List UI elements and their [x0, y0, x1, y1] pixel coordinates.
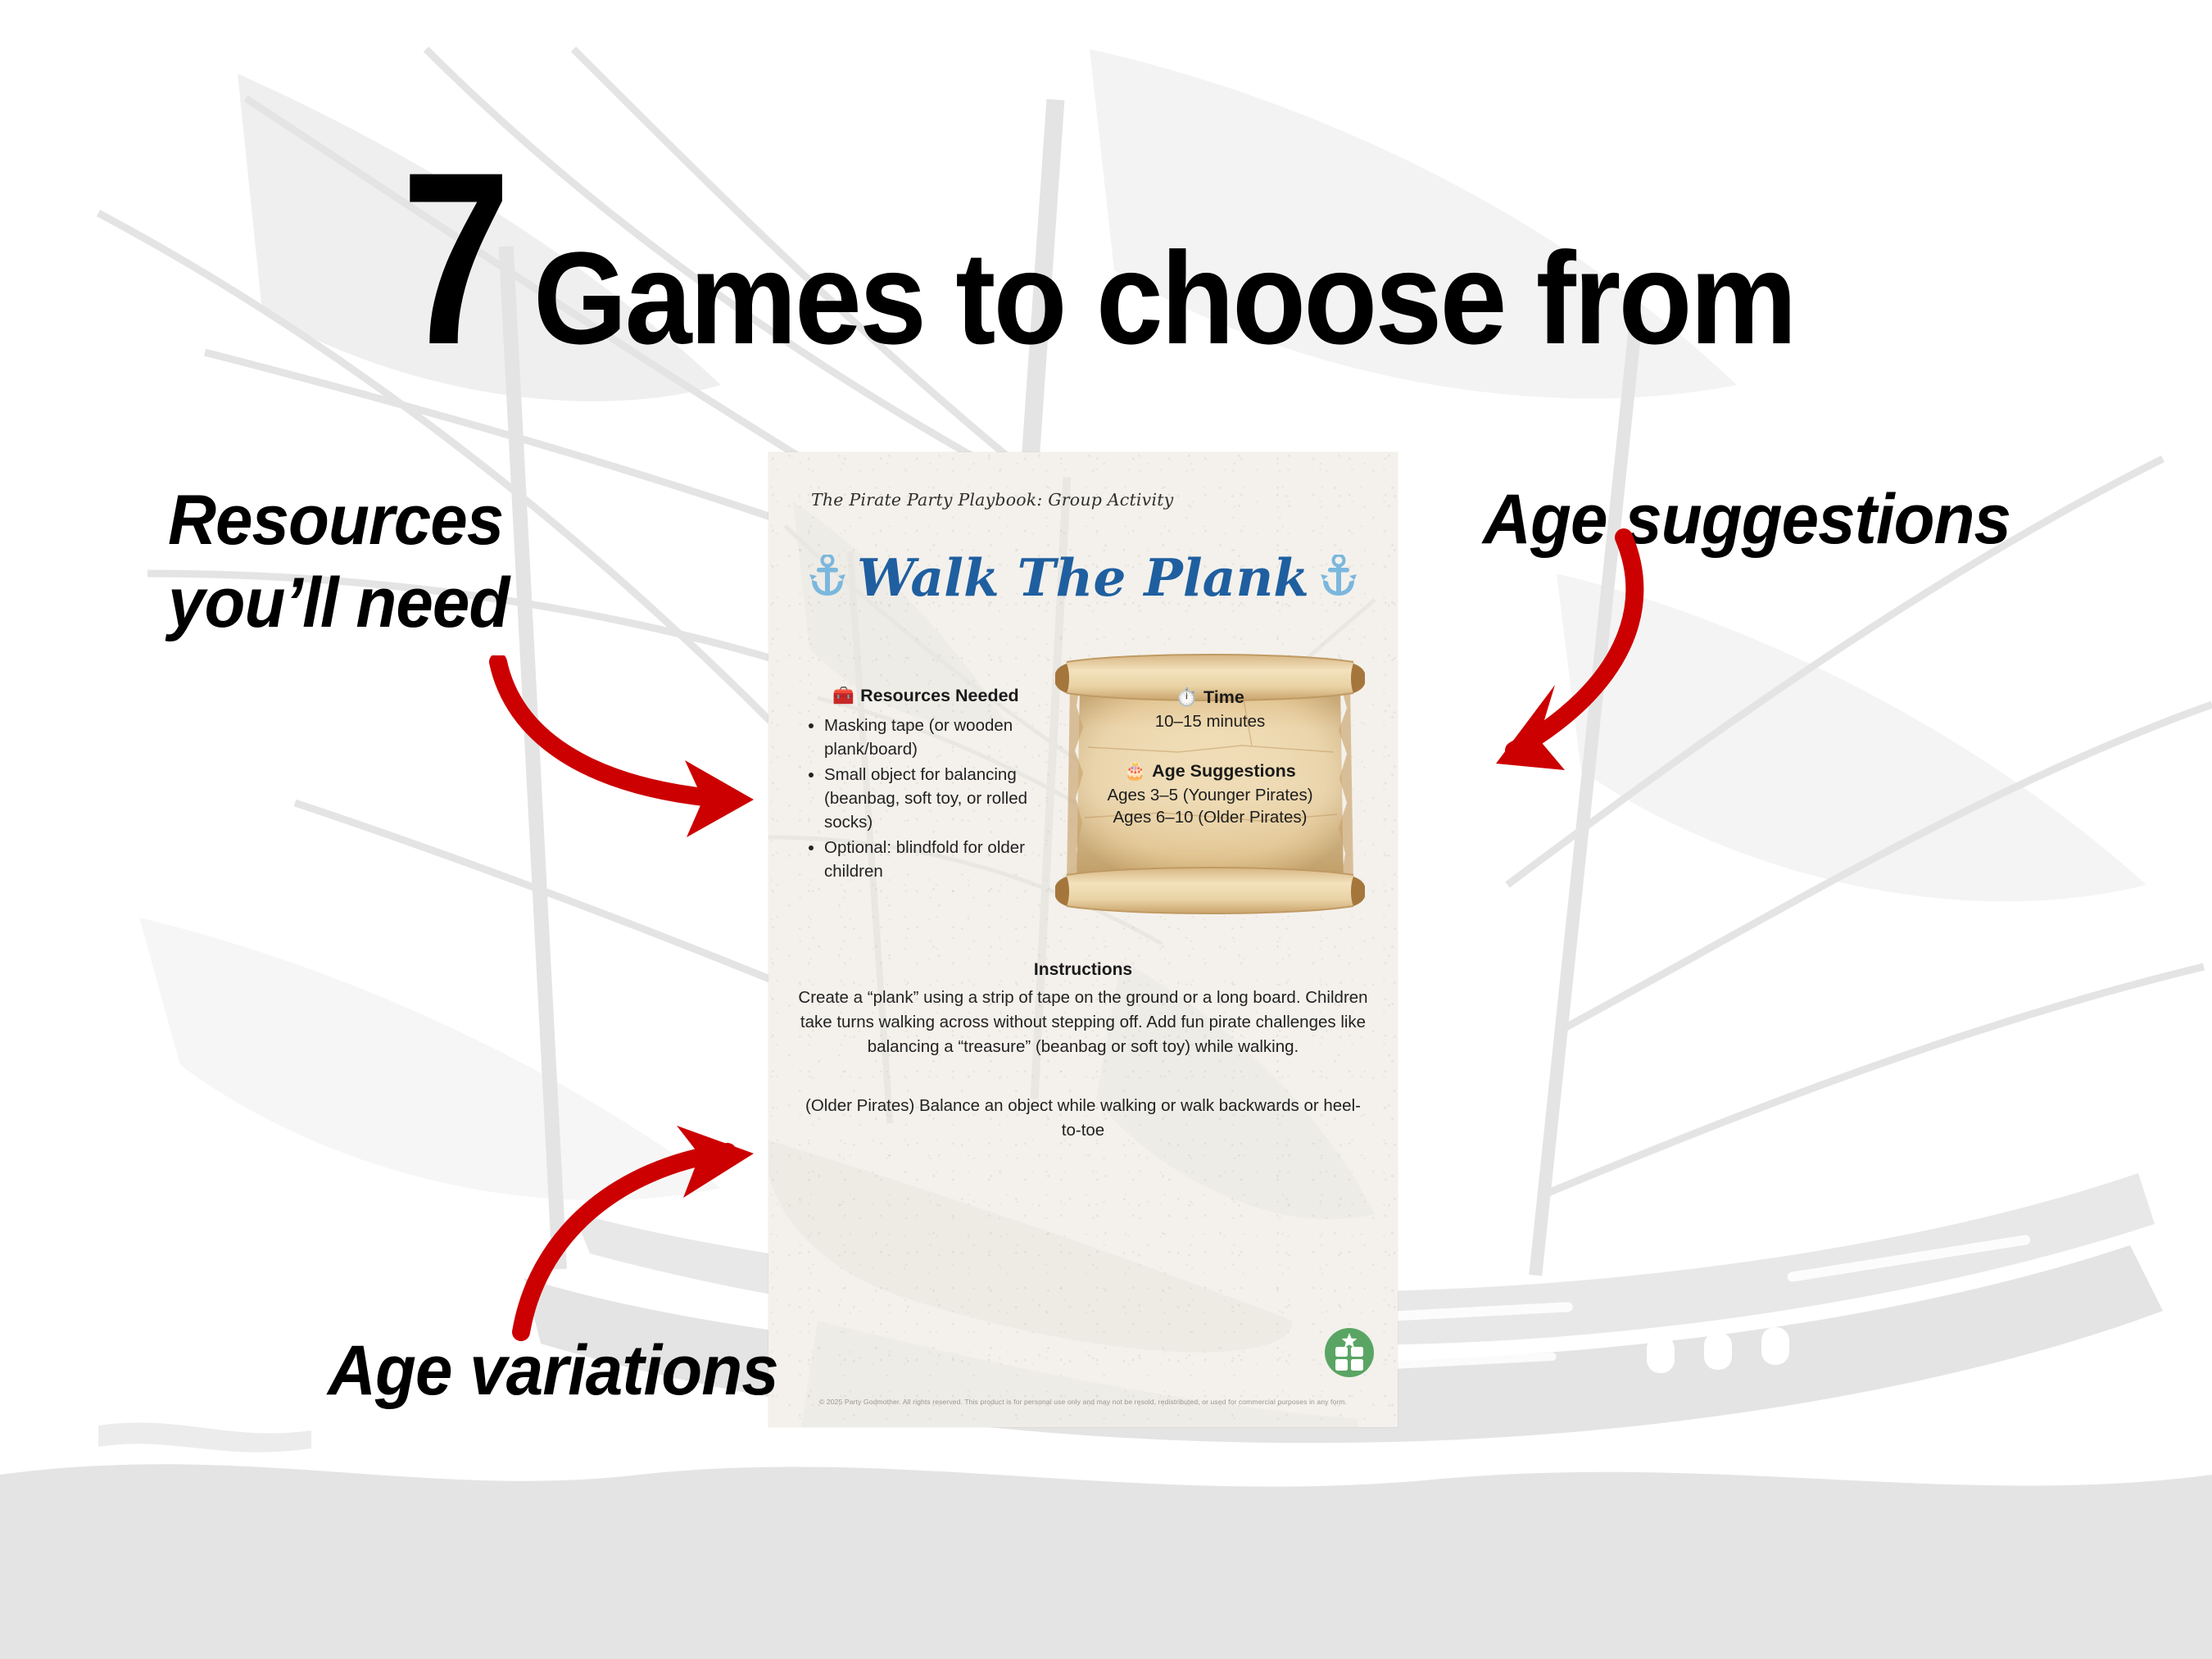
- instructions-title: Instructions: [788, 960, 1378, 980]
- list-item: Optional: blindfold for older children: [824, 836, 1049, 883]
- arrow-to-resources-icon: [483, 655, 811, 844]
- resources-list: Masking tape (or wooden plank/board) Sma…: [803, 714, 1049, 884]
- headline-text: Games to choose from: [533, 233, 1795, 364]
- card-kicker: The Pirate Party Playbook: Group Activit…: [811, 490, 1173, 510]
- resources-heading: Resources Needed: [860, 687, 1019, 706]
- activity-card: The Pirate Party Playbook: Group Activit…: [768, 452, 1398, 1427]
- anchor-icon: [1321, 555, 1357, 601]
- resources-section: 🧰 Resources Needed Masking tape (or wood…: [803, 687, 1049, 885]
- variation-text: (Older Pirates) Balance an object while …: [801, 1094, 1365, 1143]
- age-value: Ages 3–5 (Younger Pirates): [1091, 784, 1329, 806]
- age-values: Ages 3–5 (Younger Pirates) Ages 6–10 (Ol…: [1091, 784, 1329, 829]
- card-title: Walk The Plank: [857, 552, 1309, 604]
- list-item: Small object for balancing (beanbag, sof…: [824, 763, 1049, 834]
- card-footer: © 2025 Party Godmother. All rights reser…: [782, 1398, 1385, 1406]
- annotation-age-suggestions-label: Age suggestions: [1483, 479, 2010, 560]
- gift-circle-logo: [1324, 1327, 1375, 1378]
- age-value: Ages 6–10 (Older Pirates): [1091, 806, 1329, 828]
- instructions-section: Instructions Create a “plank” using a st…: [788, 960, 1378, 1059]
- arrow-to-age-variations-icon: [483, 1122, 778, 1352]
- resources-heading-row: 🧰 Resources Needed: [803, 687, 1049, 706]
- headline-number: 7: [401, 162, 503, 354]
- birthday-cake-icon: 🎂: [1124, 762, 1146, 782]
- annotation-age-variations-label: Age variations: [328, 1330, 778, 1412]
- variation-section: (Older Pirates) Balance an object while …: [801, 1094, 1365, 1143]
- anchor-icon: [809, 555, 845, 601]
- time-heading-row: ⏱️ Time: [1091, 688, 1329, 708]
- age-heading: Age Suggestions: [1152, 762, 1296, 782]
- annotation-resources-label: Resources you’ll need: [168, 479, 509, 646]
- stopwatch-icon: ⏱️: [1176, 688, 1198, 708]
- toolbox-icon: 🧰: [832, 687, 854, 706]
- time-heading: Time: [1203, 688, 1244, 708]
- age-heading-row: 🎂 Age Suggestions: [1091, 762, 1329, 782]
- slide-headline: 7 Games to choose from: [401, 162, 1905, 364]
- scroll-panel: ⏱️ Time 10–15 minutes 🎂 Age Suggestions …: [1055, 649, 1365, 919]
- scroll-content: ⏱️ Time 10–15 minutes 🎂 Age Suggestions …: [1091, 688, 1329, 829]
- list-item: Masking tape (or wooden plank/board): [824, 714, 1049, 761]
- arrow-to-age-suggestions-icon: [1450, 524, 1761, 778]
- instructions-body: Create a “plank” using a strip of tape o…: [788, 986, 1378, 1059]
- time-value: 10–15 minutes: [1091, 711, 1329, 733]
- card-title-row: Walk The Plank: [768, 552, 1398, 604]
